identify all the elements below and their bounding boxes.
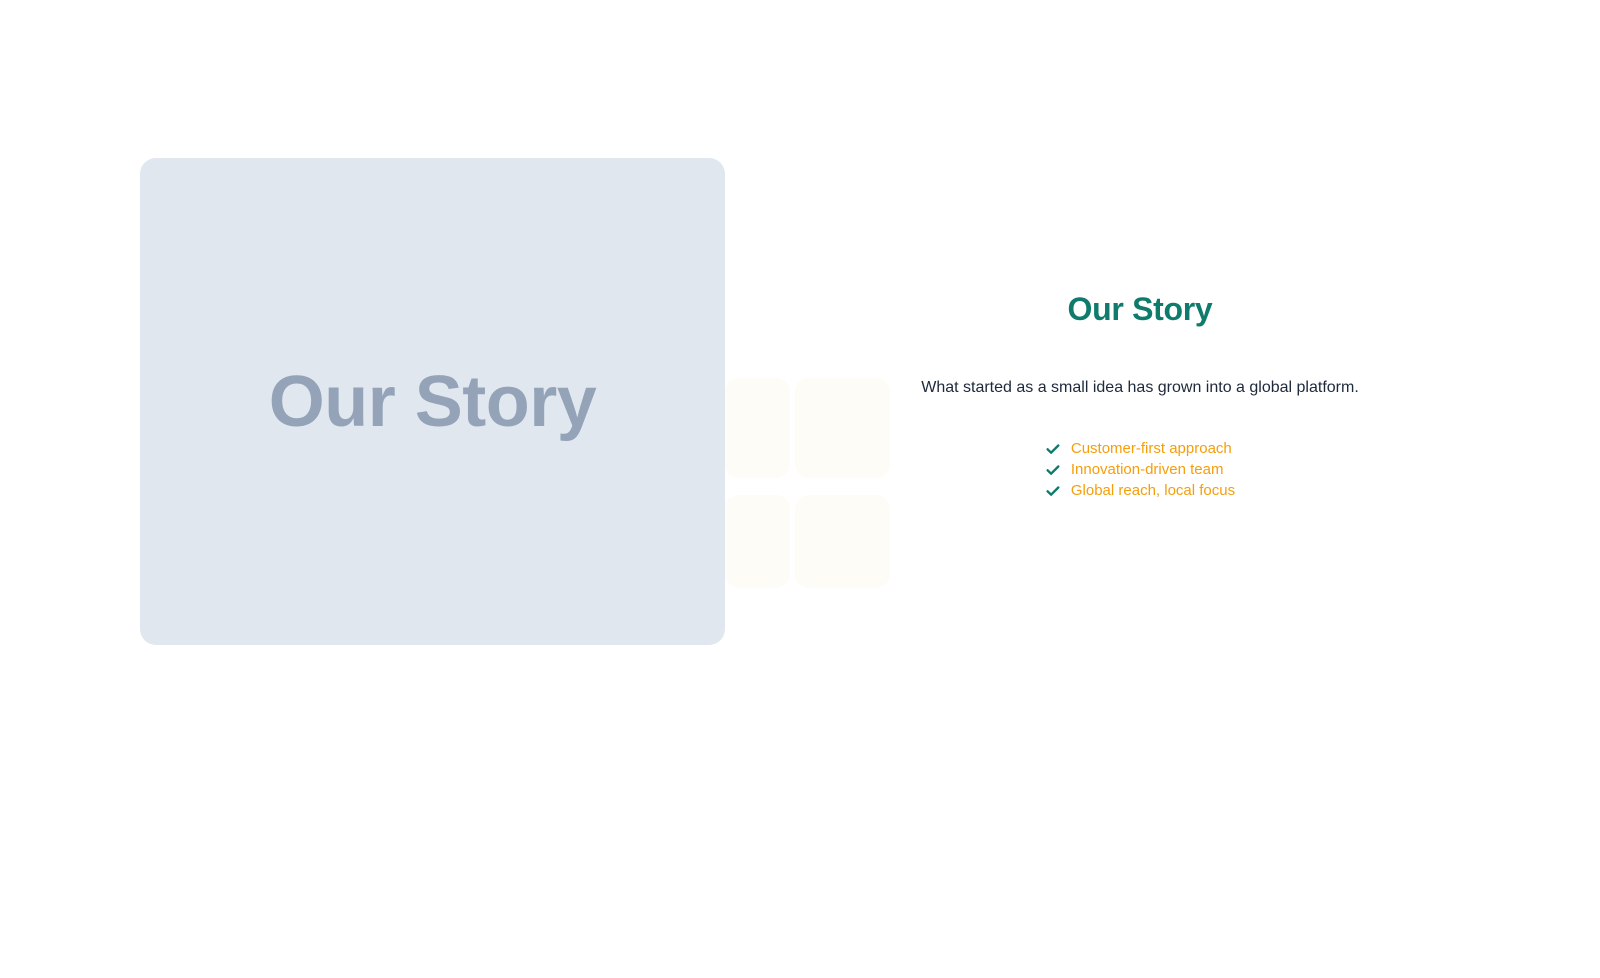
page-stage: Our Story Our Story What started as a sm… bbox=[0, 0, 1600, 978]
feature-list: Customer-first approach Innovation-drive… bbox=[1045, 400, 1235, 501]
deco-square-top-right bbox=[795, 378, 890, 478]
section-heading: Our Story bbox=[890, 290, 1390, 328]
media-placeholder-label: Our Story bbox=[269, 366, 597, 438]
check-icon bbox=[1045, 483, 1061, 499]
feature-label: Customer-first approach bbox=[1071, 438, 1232, 459]
check-icon bbox=[1045, 441, 1061, 457]
story-content: Our Story What started as a small idea h… bbox=[890, 290, 1390, 504]
check-icon bbox=[1045, 462, 1061, 478]
deco-square-bottom-left bbox=[725, 495, 790, 588]
feature-label: Global reach, local focus bbox=[1071, 480, 1235, 501]
feature-label: Innovation-driven team bbox=[1071, 459, 1224, 480]
section-paragraph: What started as a small idea has grown i… bbox=[890, 328, 1390, 400]
decorative-square-grid bbox=[725, 378, 890, 588]
list-item: Innovation-driven team bbox=[1045, 459, 1235, 480]
media-placeholder-card: Our Story bbox=[140, 158, 725, 645]
deco-square-bottom-right bbox=[795, 495, 890, 588]
deco-square-top-left bbox=[725, 378, 790, 478]
list-item: Customer-first approach bbox=[1045, 438, 1235, 459]
list-item: Global reach, local focus bbox=[1045, 480, 1235, 501]
